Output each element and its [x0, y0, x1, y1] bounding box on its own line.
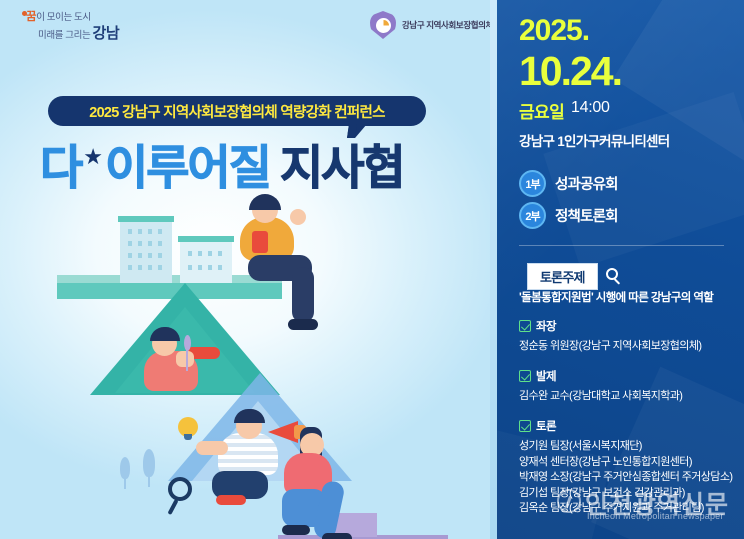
- city-logo-accent2: 강남: [93, 25, 120, 42]
- right-info-panel: 2025. 10.24. 금요일 14:00 강남구 1인가구커뮤니티센터 1부…: [497, 0, 744, 539]
- event-day-of-week: 금요일: [519, 98, 564, 123]
- left-visual-panel: 꿈이 모이는 도시 미래를 그리는 강남 강남구 지역사회보장협의체 2025 …: [0, 0, 494, 539]
- program-label-1: 성과공유회: [555, 173, 618, 194]
- building-icon-2: [180, 241, 232, 283]
- tree-icon-1: [120, 457, 130, 479]
- section-panel-label: 토론: [536, 418, 556, 434]
- conference-banner-text: 2025 강남구 지역사회보장협의체 역량강화 컨퍼런스: [89, 101, 385, 122]
- building-roof-1: [118, 216, 174, 222]
- tree-icon-2: [143, 449, 155, 477]
- association-logo-label: 강남구 지역사회보장협의체: [402, 19, 493, 31]
- section-chair-label: 좌장: [536, 318, 556, 334]
- title-part2: 이루어질: [105, 129, 270, 198]
- panelist-line-1: 성기원 팀장(서울시복지재단): [519, 439, 739, 455]
- topic-badge: 토론주제: [527, 263, 598, 290]
- program-item-1: 1부 성과공유회: [519, 170, 618, 197]
- panelist-line-5: 김옥순 팀장(강남구 주거지원과 주거관리팀): [519, 501, 739, 517]
- gangnam-city-logo: 꿈이 모이는 도시 미래를 그리는 강남: [14, 8, 144, 42]
- check-icon: [519, 320, 531, 332]
- tree-trunk-1: [124, 477, 126, 489]
- panel-divider: [490, 0, 497, 539]
- search-icon: [606, 268, 623, 285]
- section-divider: [519, 245, 724, 246]
- street-lamp-pole: [186, 349, 188, 371]
- lightbulb-icon: [178, 417, 198, 439]
- tree-trunk-2: [148, 475, 150, 487]
- page-title: 다 ★ 이루어질 지사협: [40, 132, 480, 194]
- section-presentation-title: 발제: [519, 368, 739, 384]
- section-presentation: 발제 김수완 교수(강남대학교 사회복지학과): [519, 368, 739, 405]
- section-panel-title: 토론: [519, 418, 739, 434]
- event-time: 14:00: [571, 99, 610, 117]
- poster-root: 꿈이 모이는 도시 미래를 그리는 강남 강남구 지역사회보장협의체 2025 …: [0, 0, 744, 539]
- shield-icon: [370, 11, 396, 39]
- illustration: [0, 195, 494, 539]
- topic-headline: '돌봄통합지원법' 시행에 따른 강남구의 역할: [519, 291, 734, 305]
- section-presentation-line-1: 김수완 교수(강남대학교 사회복지학과): [519, 389, 739, 405]
- check-icon: [519, 420, 531, 432]
- event-venue: 강남구 1인가구커뮤니티센터: [519, 130, 670, 150]
- program-item-2: 2부 정책토론회: [519, 202, 618, 229]
- star-icon: ★: [83, 144, 103, 170]
- conference-banner: 2025 강남구 지역사회보장협의체 역량강화 컨퍼런스: [48, 96, 426, 126]
- title-part1: 다: [40, 129, 81, 198]
- section-chair-title: 좌장: [519, 318, 739, 334]
- shield-inner-icon: [376, 18, 391, 33]
- panelist-line-2: 양재석 센터장(강남구 노인통합지원센터): [519, 455, 739, 471]
- association-logo: 강남구 지역사회보장협의체: [370, 11, 493, 39]
- panelist-line-4: 김기섭 팀장(강남구 보건소 건강관리과): [519, 486, 739, 502]
- program-label-2: 정책토론회: [555, 205, 618, 226]
- event-year: 2025.: [519, 14, 589, 48]
- program-chip-1: 1부: [519, 170, 546, 197]
- event-month-day: 10.24.: [519, 48, 621, 95]
- section-presentation-label: 발제: [536, 368, 556, 384]
- title-part3: 지사협: [280, 129, 404, 198]
- program-chip-2: 2부: [519, 202, 546, 229]
- section-chair-line-1: 정순동 위원장(강남구 지역사회보장협의체): [519, 339, 739, 355]
- magnifier-icon: [168, 477, 198, 517]
- section-panel: 토론 성기원 팀장(서울시복지재단) 양재석 센터장(강남구 노인통합지원센터)…: [519, 418, 739, 517]
- check-icon: [519, 370, 531, 382]
- city-logo-line2: 미래를 그리는 강남: [38, 22, 119, 43]
- city-logo-line2-rest: 미래를 그리는: [38, 30, 90, 41]
- panelist-line-3: 박재영 소장(강남구 주거안심종합센터 주거상담소): [519, 470, 739, 486]
- topic-header: 토론주제: [527, 263, 623, 290]
- city-logo-accent1: 꿈: [26, 11, 36, 23]
- building-icon-1: [120, 221, 172, 283]
- section-chair: 좌장 정순동 위원장(강남구 지역사회보장협의체): [519, 318, 739, 355]
- building-roof-2: [178, 236, 234, 242]
